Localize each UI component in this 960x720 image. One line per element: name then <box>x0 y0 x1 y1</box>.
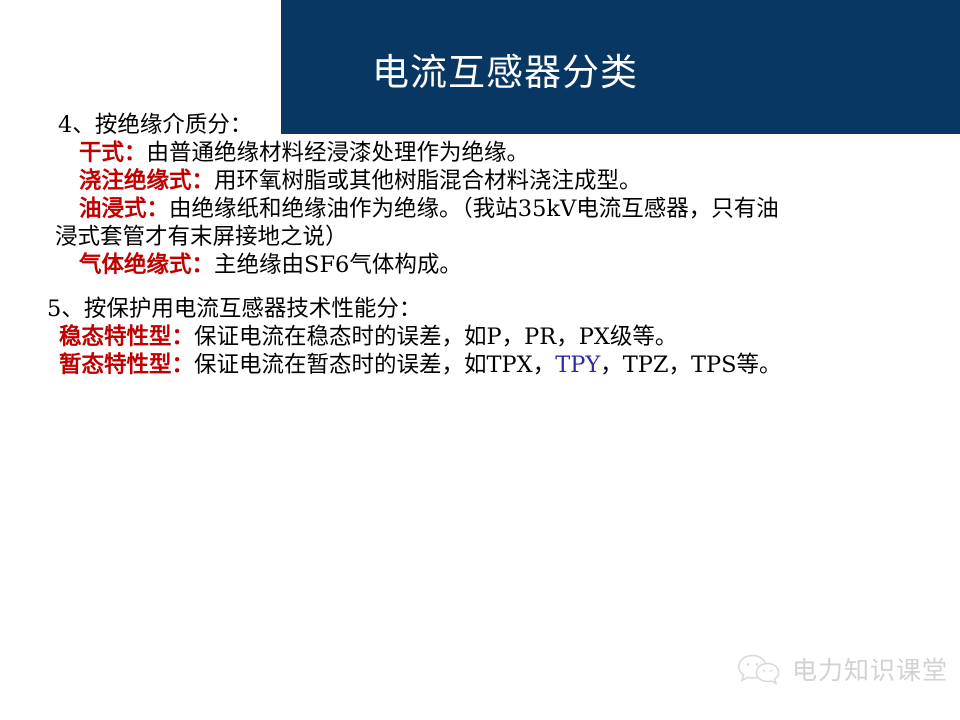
item-description: 由普通绝缘材料经浸漆处理作为绝缘。 <box>147 140 530 166</box>
section-5-number: 5、 <box>47 296 84 322</box>
item-separator: ： <box>172 352 195 378</box>
item-description-pre: 保证电流在暂态时的误差，如TPX， <box>194 352 555 378</box>
item-cast-resin-type: 浇注绝缘式：用环氧树脂或其他树脂混合材料浇注成型。 <box>0 167 960 195</box>
item-term: 浇注绝缘式 <box>79 168 192 194</box>
section-5-heading: 5、按保护用电流互感器技术性能分： <box>0 295 960 323</box>
item-description: 用环氧树脂或其他树脂混合材料浇注成型。 <box>214 168 642 194</box>
section-4-title: 按绝缘介质分： <box>95 112 253 138</box>
item-separator: ： <box>192 168 215 194</box>
wechat-icon <box>737 653 783 687</box>
item-gas-insulated-type: 气体绝缘式：主绝缘由SF6气体构成。 <box>0 251 960 279</box>
section-5-title: 按保护用电流互感器技术性能分： <box>84 296 422 322</box>
item-term: 油浸式 <box>79 196 147 222</box>
item-dry-type: 干式：由普通绝缘材料经浸漆处理作为绝缘。 <box>0 139 960 167</box>
page-title: 电流互感器分类 <box>372 54 638 91</box>
watermark-brand: 电力知识课堂 <box>737 653 948 687</box>
item-steady-state-type: 稳态特性型：保证电流在稳态时的误差，如P，PR，PX级等。 <box>0 323 960 351</box>
item-oil-immersed-type: 油浸式：由绝缘纸和绝缘油作为绝缘。（我站35kV电流互感器，只有油 <box>0 195 960 223</box>
item-description: 由绝缘纸和绝缘油作为绝缘。（我站35kV电流互感器，只有油 <box>169 196 779 222</box>
item-description-highlight: TPY <box>555 352 600 378</box>
item-term: 气体绝缘式 <box>79 252 192 278</box>
item-separator: ： <box>172 324 195 350</box>
item-separator: ： <box>192 252 215 278</box>
section-4-number: 4、 <box>58 112 95 138</box>
item-separator: ： <box>124 140 147 166</box>
item-oil-immersed-type-wrap: 浸式套管才有末屏接地之说） <box>0 223 960 251</box>
item-separator: ： <box>147 196 170 222</box>
item-term: 暂态特性型 <box>59 352 172 378</box>
item-term: 干式 <box>79 140 124 166</box>
section-spacer <box>0 279 960 295</box>
item-term: 稳态特性型 <box>59 324 172 350</box>
section-4-heading: 4、按绝缘介质分： <box>0 111 960 139</box>
item-description: 保证电流在稳态时的误差，如P，PR，PX级等。 <box>194 324 677 350</box>
item-description-continued: 浸式套管才有末屏接地之说） <box>55 224 348 250</box>
watermark-label: 电力知识课堂 <box>792 658 948 683</box>
item-description-post: ，TPZ，TPS等。 <box>600 352 781 378</box>
item-description: 主绝缘由SF6气体构成。 <box>214 252 462 278</box>
item-transient-state-type: 暂态特性型：保证电流在暂态时的误差，如TPX，TPY，TPZ，TPS等。 <box>0 351 960 379</box>
slide-body: 4、按绝缘介质分： 干式：由普通绝缘材料经浸漆处理作为绝缘。 浇注绝缘式：用环氧… <box>0 111 960 379</box>
